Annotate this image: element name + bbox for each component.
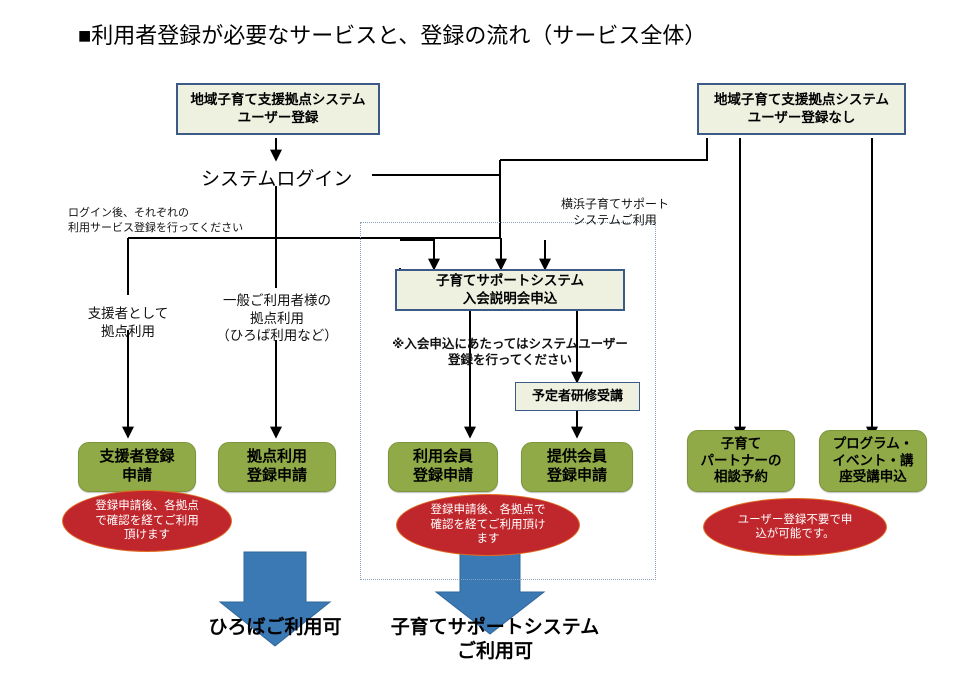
node-support-system-briefing[interactable]: 子育てサポートシステム 入会説明会申込 xyxy=(395,269,625,311)
node-system-login: システムログイン xyxy=(201,164,352,191)
callout-left-confirmation: 登録申請後、各拠点 で確認を経てご利用 頂けます xyxy=(62,490,232,552)
outcome-support-system: 子育てサポートシステム ご利用可 xyxy=(370,616,620,664)
node-top-right-no-registration[interactable]: 地域子育て支援拠点システム ユーザー登録なし xyxy=(697,83,906,135)
diagram-canvas: ■利用者登録が必要なサービスと、登録の流れ（サービス全体） 地域子育て支援拠点シ… xyxy=(0,0,967,684)
annotation-after-login: ログイン後、それぞれの 利用サービス登録を行ってください xyxy=(68,206,298,236)
node-supporter-registration[interactable]: 支援者登録 申請 xyxy=(78,442,196,492)
node-program-event-course[interactable]: プログラム・ イベント・講 座受講申込 xyxy=(819,430,927,492)
outcome-hiroba: ひろばご利用可 xyxy=(175,616,375,640)
annotation-as-supporter: 支援者として 拠点利用 xyxy=(58,305,198,340)
node-training-course[interactable]: 予定者研修受講 xyxy=(515,382,640,411)
callout-center-confirmation: 登録申請後、各拠点で 確認を経てご利用頂け ます xyxy=(396,494,580,556)
annotation-user-registration-note: ※入会申込にあたってはシステムユーザー 登録を行ってください xyxy=(372,336,648,369)
node-top-left-registration[interactable]: 地域子育て支援拠点システム ユーザー登録 xyxy=(176,83,380,135)
annotation-general-user: 一般ご利用者様の 拠点利用 （ひろば利用など） xyxy=(201,292,353,345)
node-kyoten-use-registration[interactable]: 拠点利用 登録申請 xyxy=(218,442,336,492)
page-title: ■利用者登録が必要なサービスと、登録の流れ（サービス全体） xyxy=(78,18,838,50)
node-teikyo-member-registration[interactable]: 提供会員 登録申請 xyxy=(521,442,633,492)
node-parenting-partner-consult[interactable]: 子育て パートナーの 相談予約 xyxy=(687,430,795,492)
callout-right-no-registration: ユーザー登録不要で申 込が可能です。 xyxy=(703,498,887,556)
node-riyo-member-registration[interactable]: 利用会員 登録申請 xyxy=(388,442,498,492)
annotation-yokohama-support: 横浜子育てサポート システムご利用 xyxy=(520,196,710,228)
